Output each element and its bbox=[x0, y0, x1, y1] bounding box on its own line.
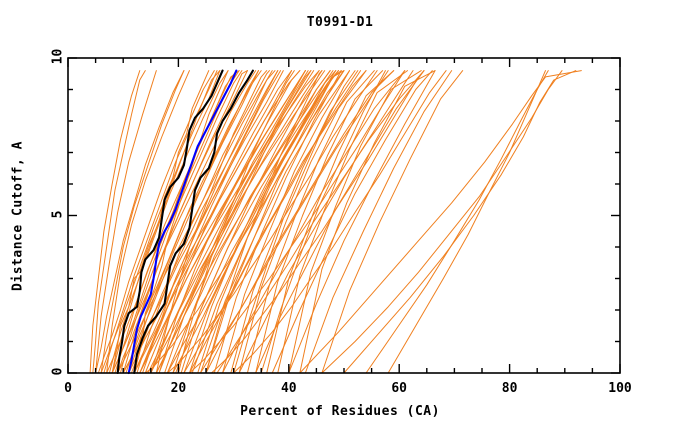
series-line bbox=[289, 71, 435, 373]
series-line bbox=[305, 71, 451, 373]
series-line bbox=[388, 71, 545, 373]
x-tick-label: 60 bbox=[391, 381, 407, 396]
chart-figure: T0991-D1 Distance Cutoff, A Percent of R… bbox=[0, 0, 680, 440]
series-line bbox=[344, 71, 576, 373]
x-tick-label: 80 bbox=[502, 381, 518, 396]
x-tick-label: 100 bbox=[608, 381, 631, 396]
series-layer bbox=[90, 71, 581, 373]
series-line bbox=[300, 71, 582, 373]
y-tick-label: 0 bbox=[54, 364, 62, 379]
x-tick-label: 20 bbox=[171, 381, 187, 396]
series-line bbox=[181, 71, 322, 373]
series-line bbox=[272, 71, 432, 373]
x-tick-label: 0 bbox=[64, 381, 72, 396]
plot-canvas bbox=[0, 0, 680, 440]
series-line bbox=[159, 71, 319, 373]
y-tick-label: 10 bbox=[50, 49, 66, 64]
y-tick-label: 5 bbox=[54, 207, 62, 222]
series-line bbox=[366, 71, 548, 373]
x-tick-label: 40 bbox=[281, 381, 297, 396]
